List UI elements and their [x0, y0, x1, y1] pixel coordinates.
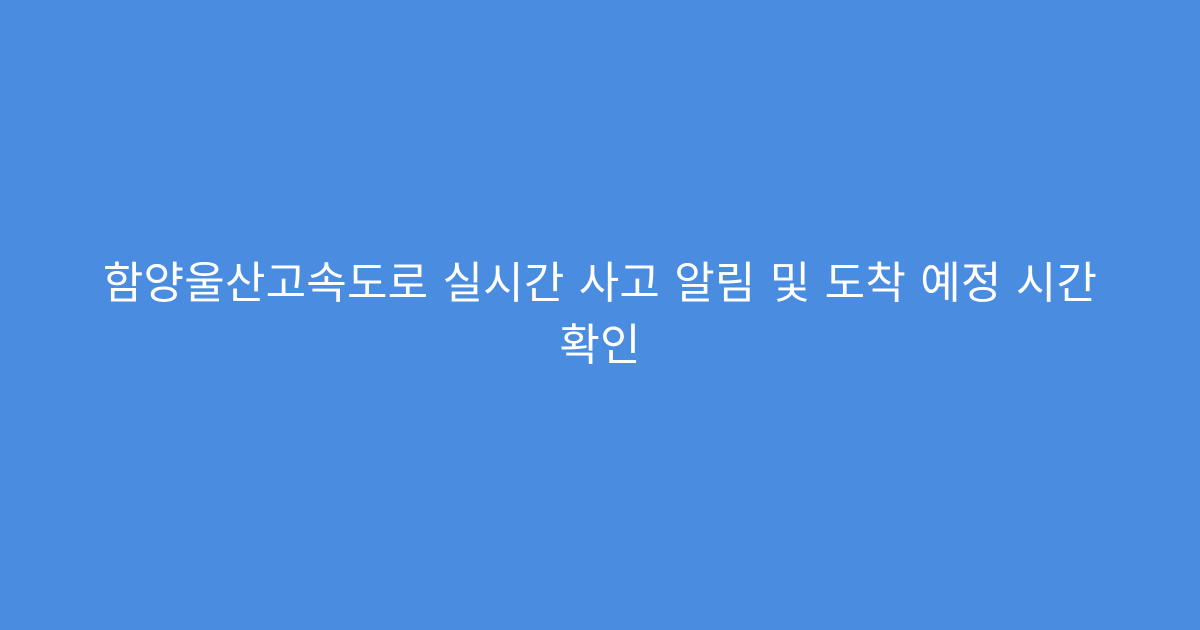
title-container: 함양울산고속도로 실시간 사고 알림 및 도착 예정 시간 확인 [70, 253, 1130, 377]
og-card: 함양울산고속도로 실시간 사고 알림 및 도착 예정 시간 확인 [0, 0, 1200, 630]
page-title: 함양울산고속도로 실시간 사고 알림 및 도착 예정 시간 확인 [70, 253, 1130, 377]
